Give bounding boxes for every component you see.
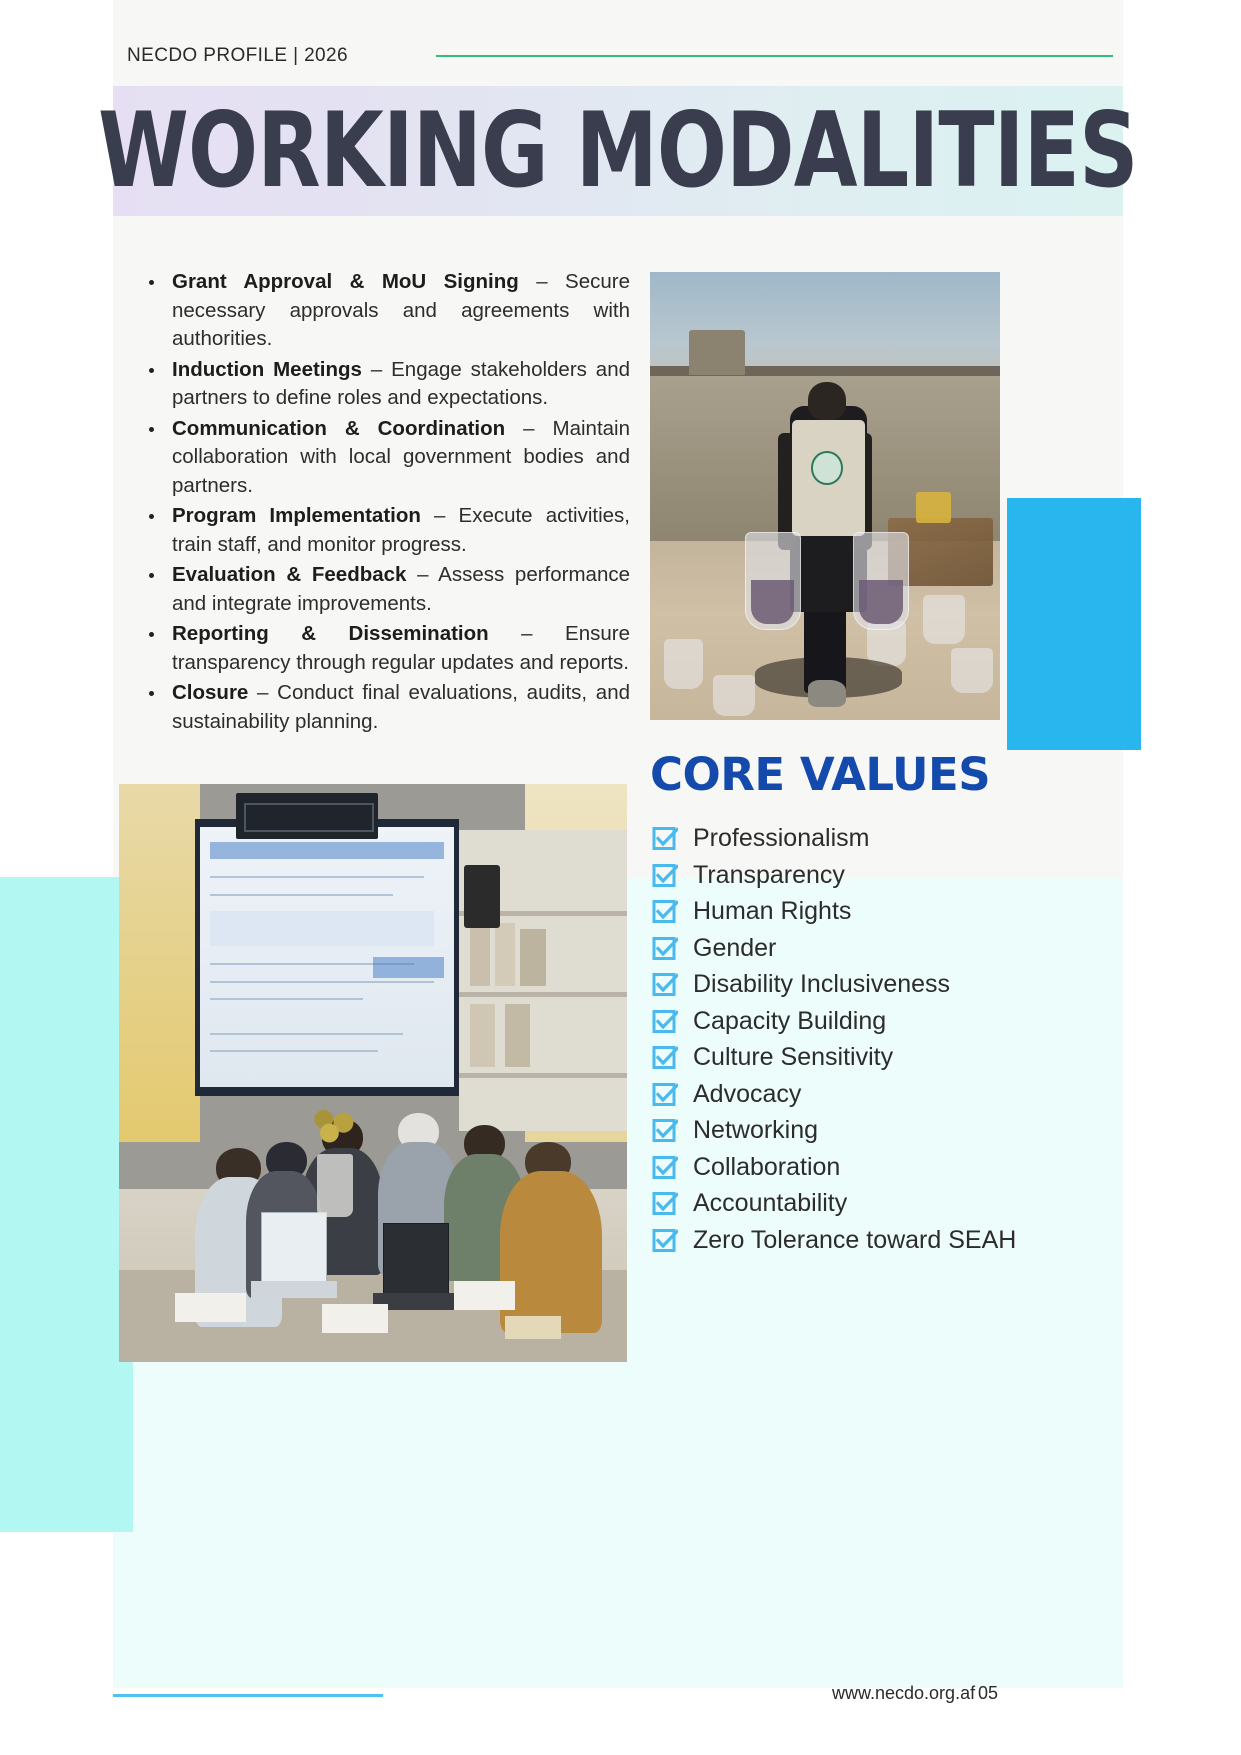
- modality-term: Grant Approval & MoU Signing: [172, 270, 519, 293]
- title-band: WORKING MODALITIES: [113, 86, 1123, 216]
- meeting-photo: [119, 784, 627, 1362]
- list-item: Professionalism: [652, 822, 1042, 854]
- checkbox-checked-icon: [652, 1009, 678, 1035]
- list-item: Collaboration: [652, 1151, 1042, 1183]
- list-item: Human Rights: [652, 895, 1042, 927]
- checkbox-checked-icon: [652, 1228, 678, 1254]
- list-item: Advocacy: [652, 1078, 1042, 1110]
- core-value-label: Zero Tolerance toward SEAH: [693, 1224, 1016, 1256]
- core-value-label: Transparency: [693, 859, 845, 891]
- modality-dash: –: [421, 504, 459, 527]
- footer-rule: [113, 1694, 383, 1697]
- modality-term: Communication & Coordination: [172, 417, 505, 440]
- working-modalities-list: Grant Approval & MoU Signing – Secure ne…: [140, 268, 630, 738]
- list-item: Networking: [652, 1114, 1042, 1146]
- modality-dash: –: [362, 358, 391, 381]
- list-item: Capacity Building: [652, 1005, 1042, 1037]
- core-value-label: Capacity Building: [693, 1005, 886, 1037]
- checkbox-checked-icon: [652, 936, 678, 962]
- core-value-label: Gender: [693, 932, 776, 964]
- core-value-label: Human Rights: [693, 895, 851, 927]
- list-item: Closure – Conduct final evaluations, aud…: [140, 679, 630, 736]
- core-value-label: Advocacy: [693, 1078, 801, 1110]
- checkbox-checked-icon: [652, 1082, 678, 1108]
- modality-dash: –: [505, 417, 552, 440]
- core-values-heading: CORE VALUES: [650, 748, 990, 801]
- list-item: Zero Tolerance toward SEAH: [652, 1224, 1042, 1256]
- core-value-label: Disability Inclusiveness: [693, 968, 950, 1000]
- footer-website[interactable]: www.necdo.org.af: [832, 1683, 975, 1704]
- modality-term: Program Implementation: [172, 504, 421, 527]
- list-item: Program Implementation – Execute activit…: [140, 502, 630, 559]
- modalities-ul: Grant Approval & MoU Signing – Secure ne…: [140, 268, 630, 736]
- checkbox-checked-icon: [652, 972, 678, 998]
- list-item: Gender: [652, 932, 1042, 964]
- header-rule: [436, 55, 1113, 57]
- checkbox-checked-icon: [652, 826, 678, 852]
- modality-dash: –: [519, 270, 565, 293]
- page-canvas: NECDO PROFILE | 2026 WORKING MODALITIES …: [0, 0, 1241, 1755]
- header-label: NECDO PROFILE | 2026: [113, 45, 348, 67]
- list-item: Transparency: [652, 859, 1042, 891]
- list-item: Disability Inclusiveness: [652, 968, 1042, 1000]
- list-item: Evaluation & Feedback – Assess performan…: [140, 561, 630, 618]
- list-item: Accountability: [652, 1187, 1042, 1219]
- modality-dash: –: [406, 563, 438, 586]
- modality-term: Evaluation & Feedback: [172, 563, 406, 586]
- checkbox-checked-icon: [652, 899, 678, 925]
- relief-worker-photo: [650, 272, 1000, 720]
- checkbox-checked-icon: [652, 1191, 678, 1217]
- decor-left-accent-block: [0, 877, 133, 1532]
- page-header: NECDO PROFILE | 2026: [113, 36, 1123, 76]
- modality-dash: –: [248, 681, 277, 704]
- core-values-list: Professionalism Transparency Human Right…: [652, 822, 1042, 1260]
- core-value-label: Culture Sensitivity: [693, 1041, 893, 1073]
- core-value-label: Collaboration: [693, 1151, 840, 1183]
- checkbox-checked-icon: [652, 1155, 678, 1181]
- list-item: Grant Approval & MoU Signing – Secure ne…: [140, 268, 630, 354]
- core-value-label: Professionalism: [693, 822, 869, 854]
- list-item: Culture Sensitivity: [652, 1041, 1042, 1073]
- modality-term: Reporting & Dissemination: [172, 622, 489, 645]
- list-item: Induction Meetings – Engage stakeholders…: [140, 356, 630, 413]
- modality-term: Induction Meetings: [172, 358, 362, 381]
- footer-page-number: 05: [978, 1683, 998, 1704]
- core-value-label: Networking: [693, 1114, 818, 1146]
- decor-right-accent-block: [1007, 498, 1141, 750]
- checkbox-checked-icon: [652, 1118, 678, 1144]
- checkbox-checked-icon: [652, 863, 678, 889]
- modality-term: Closure: [172, 681, 248, 704]
- checkbox-checked-icon: [652, 1045, 678, 1071]
- list-item: Reporting & Dissemination – Ensure trans…: [140, 620, 630, 677]
- modality-dash: –: [489, 622, 565, 645]
- core-value-label: Accountability: [693, 1187, 847, 1219]
- page-title: WORKING MODALITIES: [98, 100, 1138, 203]
- list-item: Communication & Coordination – Maintain …: [140, 415, 630, 501]
